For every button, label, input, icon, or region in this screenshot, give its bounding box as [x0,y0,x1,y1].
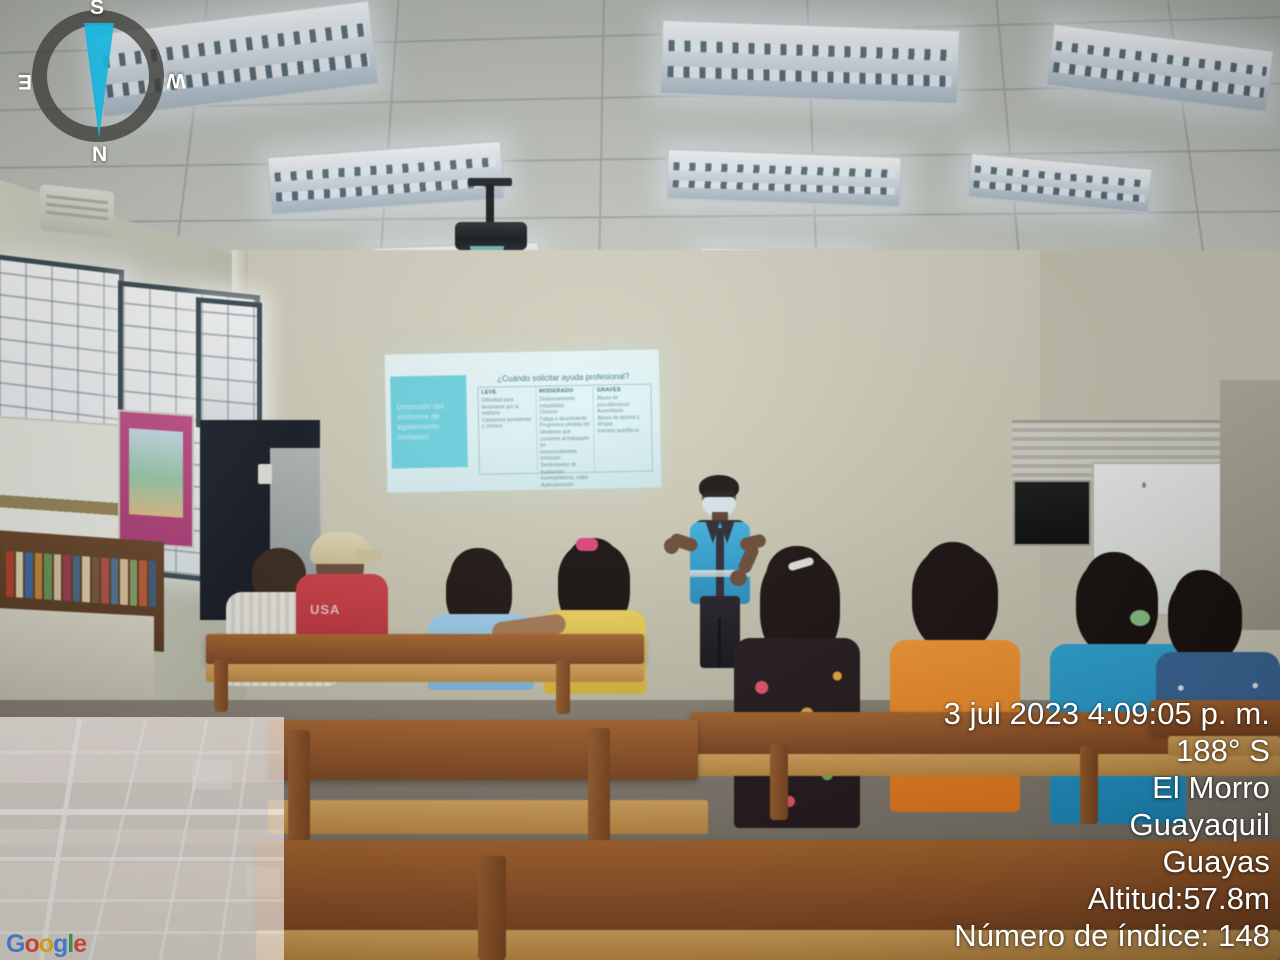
stamp-province: Guayas [944,843,1270,880]
google-logo-o2: o [39,930,53,958]
slide-panel-title: Detección del síndrome de agotamiento (c… [397,401,463,442]
presenter-vest-opening [716,528,724,602]
bench-leg [288,730,310,842]
slide-item: Sentimientos de frustración [540,462,591,476]
foreground-bench-back [268,720,698,780]
slide-column-header: MODERADO [539,388,590,395]
presenter-right-hand [730,570,747,586]
bench-leg [214,660,228,712]
slide-column-header: LEVE [481,389,532,396]
presenter-left-hand [664,538,679,554]
slide-heading: ¿Cuándo solicitar ayuda profesional? [477,372,649,384]
slide-item: Progresiva pérdida del idealismo que con… [540,422,591,449]
map-road [0,809,284,815]
projector-mount-arm [486,184,494,226]
ceiling-light [659,19,961,105]
google-logo: Google [6,930,86,959]
gps-stamp: 3 jul 2023 4:09:05 p. m. 188° S El Morro… [944,695,1270,954]
slide-accent-panel: Detección del síndrome de agotamiento (c… [390,375,468,468]
map-road [0,857,284,861]
dark-window [1013,480,1091,546]
slide-item: emocionalmente exhausto [540,448,591,462]
map-block [246,867,280,897]
slide-item: Intentos autolíticos [598,428,649,436]
slide-item: Abuso de psicofármacos [597,395,648,409]
map-road [0,751,284,754]
slide-table: LEVE Dificultad para levantarse por la m… [477,384,653,475]
stamp-bearing: 188° S [944,732,1270,769]
stamp-index: Número de índice: 148 [944,917,1270,954]
glass-block-window [196,297,262,433]
bench-leg [588,728,610,844]
cabinet-handle [258,464,272,484]
google-logo-g2: g [53,930,67,958]
projection-screen: Detección del síndrome de agotamiento (c… [385,349,662,492]
attendee-hair-band [1130,610,1150,626]
attendee-hair [912,548,998,652]
bench-leg [770,744,788,820]
attendee-hair [1168,576,1242,664]
google-logo-e: e [73,930,86,958]
bench-back [206,634,644,664]
slide-item: Dificultad para levantarse por la mañana [482,397,533,418]
slide-column-moderado: MODERADO Distanciamiento Irritabilidad C… [536,386,595,473]
slide-column-graves: GRAVES Abuso de psicofármacos Ausentismo… [594,385,652,472]
slide-column-header: GRAVES [597,387,648,394]
attendee-cap-brim [356,550,382,561]
google-logo-g1: G [6,930,24,958]
projected-slide: Detección del síndrome de agotamiento (c… [385,349,662,492]
map-overlay[interactable]: 🛏 🏛 🌲 esia Católica San acinto | El Morr… [0,717,284,960]
slide-item: Cansancio persistente y crónico [482,417,533,431]
stamp-city: Guayaquil [944,806,1270,843]
gps-camera-photo: Detección del síndrome de agotamiento (c… [0,0,1280,960]
bench-seat [206,664,644,682]
map-road [0,899,284,902]
wall-poster [118,409,194,548]
attendee-hair-tie [576,538,598,551]
presenter-leg-split [718,618,721,668]
stamp-locality: El Morro [944,769,1270,806]
map-block [192,761,232,789]
bench-leg [556,660,570,714]
slide-item: Abuso de alcohol y drogas [597,414,648,428]
ceiling-light [665,148,903,208]
foreground-bench-seat [268,800,708,834]
attendee-shirt-text: USA [310,602,340,617]
wall-vent [40,184,114,238]
stamp-datetime: 3 jul 2023 4:09:05 p. m. [944,695,1270,732]
google-logo-o1: o [24,930,38,958]
stamp-altitude: Altitud:57.8m [944,880,1270,917]
slide-column-leve: LEVE Dificultad para levantarse por la m… [478,387,537,474]
bench-leg [478,856,506,960]
attendee-hair [1076,558,1158,656]
